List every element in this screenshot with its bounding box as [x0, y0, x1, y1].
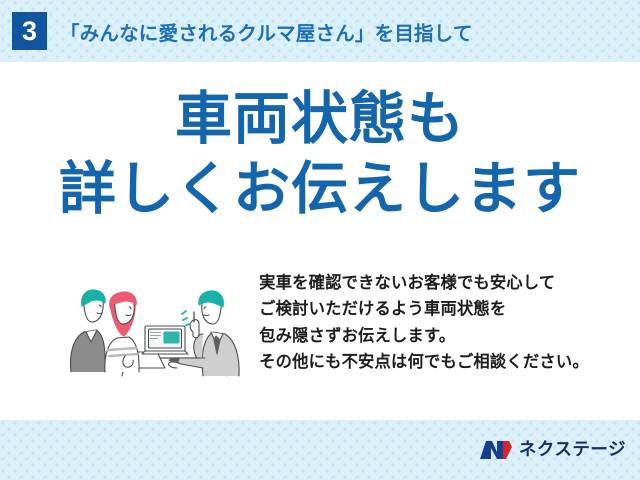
body-line-2: ご検討いただけるよう車両状態を: [259, 296, 589, 322]
content-card: 車両状態も 詳しくお伝えします: [0, 62, 640, 420]
content-row: 実車を確認できないお客様でも安心して ご検討いただけるよう車両状態を 包み隠さず…: [0, 268, 640, 384]
nextage-logo: ネクステージ: [479, 438, 626, 462]
nextage-n-logo-icon: [479, 438, 513, 462]
consultation-illustration: [53, 272, 249, 384]
headline-line-2: 詳しくお伝えします: [0, 158, 640, 222]
body-copy: 実車を確認できないお客様でも安心して ご検討いただけるよう車両状態を 包み隠さず…: [259, 270, 589, 376]
body-line-4: その他にも不安点は何でもご相談ください。: [259, 349, 589, 375]
promo-banner: 3 「みんなに愛されるクルマ屋さん」を目指して 車両状態も 詳しくお伝えします: [0, 0, 640, 480]
banner-header: 3 「みんなに愛されるクルマ屋さん」を目指して: [0, 0, 640, 62]
nextage-logo-text: ネクステージ: [519, 441, 626, 459]
banner-footer: ネクステージ: [0, 420, 640, 480]
banner-header-title: 「みんなに愛されるクルマ屋さん」を目指して: [60, 17, 473, 46]
headline-block: 車両状態も 詳しくお伝えします: [0, 88, 640, 222]
section-number-badge: 3: [12, 12, 47, 50]
headline-line-1: 車両状態も: [0, 88, 640, 152]
body-line-3: 包み隠さずお伝えします。: [259, 323, 589, 349]
body-line-1: 実車を確認できないお客様でも安心して: [259, 270, 589, 296]
